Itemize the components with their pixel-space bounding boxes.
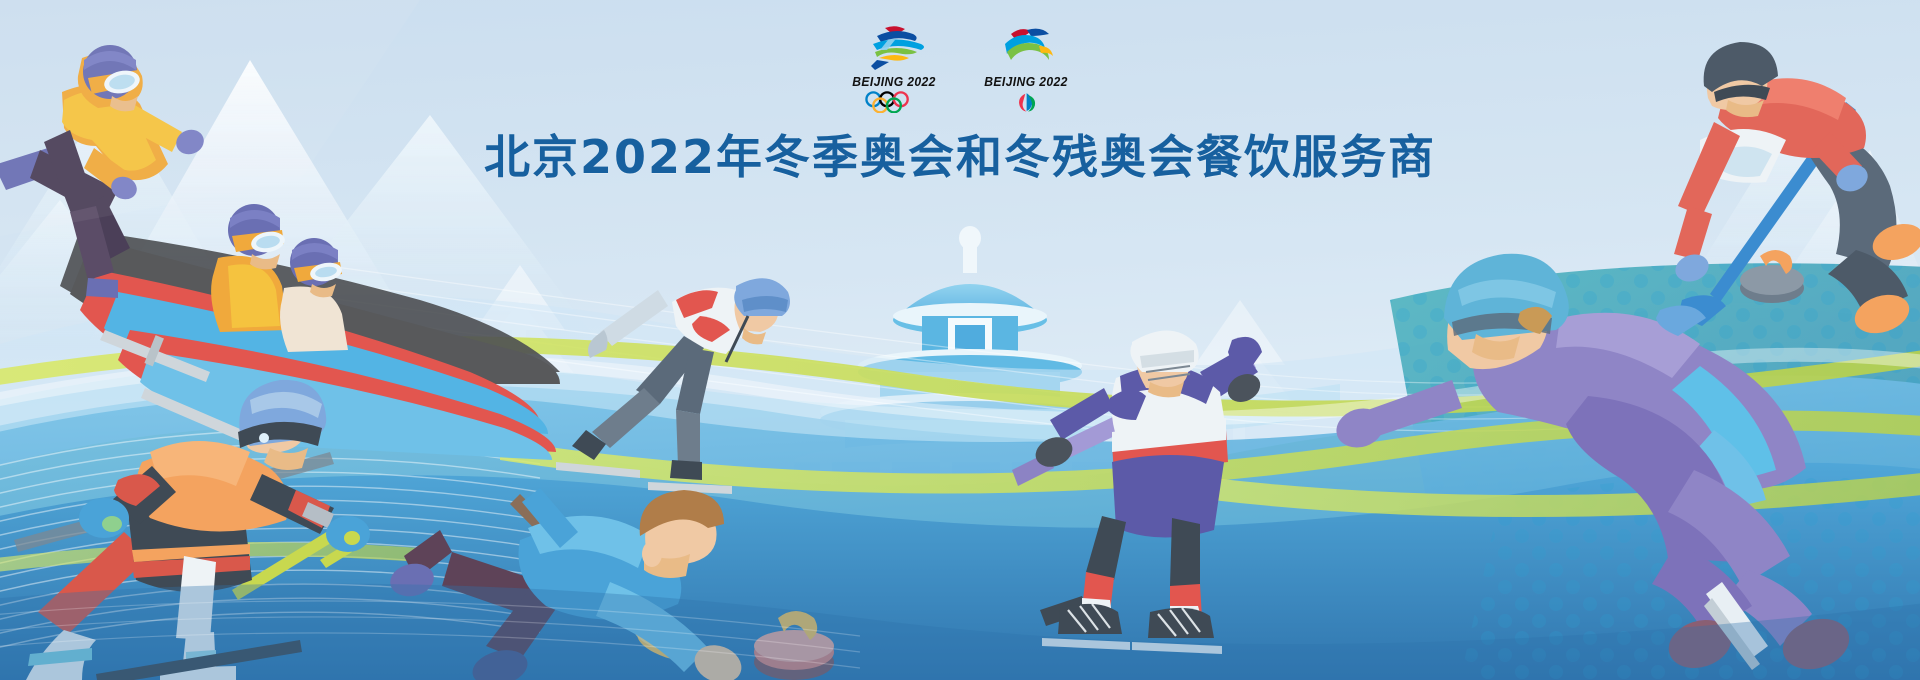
paralympic-wordmark: BEIJING 2022 — [984, 75, 1068, 89]
paralympic-agitos-icon — [995, 91, 1057, 113]
beijing-2022-paralympic-emblem[interactable]: BEIJING 2022 — [970, 22, 1082, 113]
emblem-group: BEIJING 2022 — [838, 22, 1082, 113]
olympic-wordmark: BEIJING 2022 — [852, 75, 936, 89]
flying-high-paralympic-mark — [987, 22, 1065, 74]
beijing-2022-olympic-emblem[interactable]: BEIJING 2022 — [838, 22, 950, 113]
beijing-2022-banner: BEIJING 2022 — [0, 0, 1920, 680]
olympic-rings-icon — [863, 91, 925, 113]
page-title: 北京2022年冬季奥会和冬残奥会餐饮服务商 — [484, 121, 1436, 187]
winter-dream-olympic-mark — [855, 22, 933, 74]
